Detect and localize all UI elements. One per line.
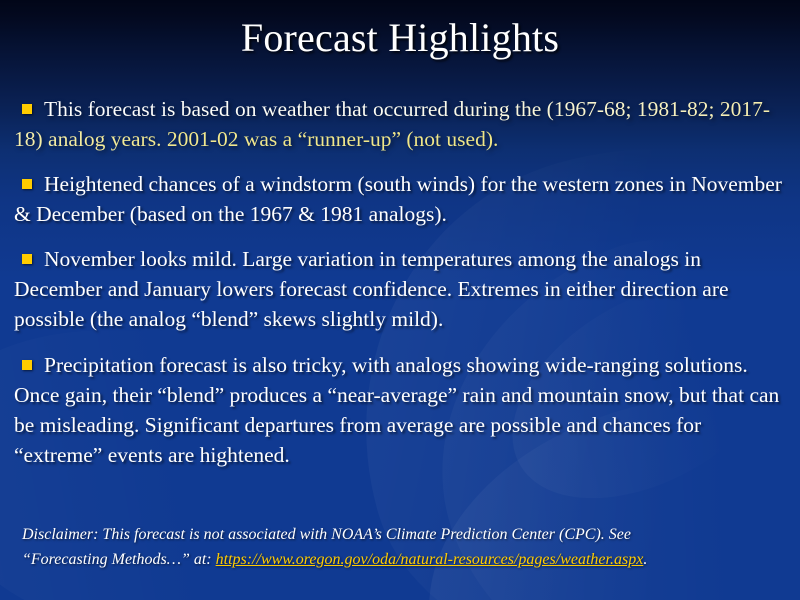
square-bullet-icon	[22, 254, 32, 264]
slide-title: Forecast Highlights	[0, 14, 800, 62]
bullet-item: Precipitation forecast is also tricky, w…	[14, 350, 790, 470]
square-bullet-icon	[22, 179, 32, 189]
weather-page-link[interactable]: https://www.oregon.gov/oda/natural-resou…	[216, 551, 644, 568]
square-bullet-icon	[22, 360, 32, 370]
disclaimer-line-1: Disclaimer: This forecast is not associa…	[22, 526, 631, 543]
bullet-text: Heightened chances of a windstorm (south…	[14, 172, 782, 226]
square-bullet-icon	[22, 104, 32, 114]
bullet-text: Precipitation forecast is also tricky, w…	[14, 353, 779, 467]
bullet-item: This forecast is based on weather that o…	[14, 94, 790, 154]
bullet-item: November looks mild. Large variation in …	[14, 244, 790, 334]
bullet-text: This forecast is based on weather that o…	[14, 97, 770, 151]
disclaimer: Disclaimer: This forecast is not associa…	[22, 522, 778, 572]
bullet-item: Heightened chances of a windstorm (south…	[14, 169, 790, 229]
slide-body: This forecast is based on weather that o…	[14, 94, 790, 480]
disclaimer-line-2-prefix: “Forecasting Methods…” at:	[22, 551, 216, 568]
bullet-text: November looks mild. Large variation in …	[14, 247, 729, 331]
slide: Forecast Highlights This forecast is bas…	[0, 0, 800, 600]
disclaimer-line-2-suffix: .	[643, 551, 647, 568]
